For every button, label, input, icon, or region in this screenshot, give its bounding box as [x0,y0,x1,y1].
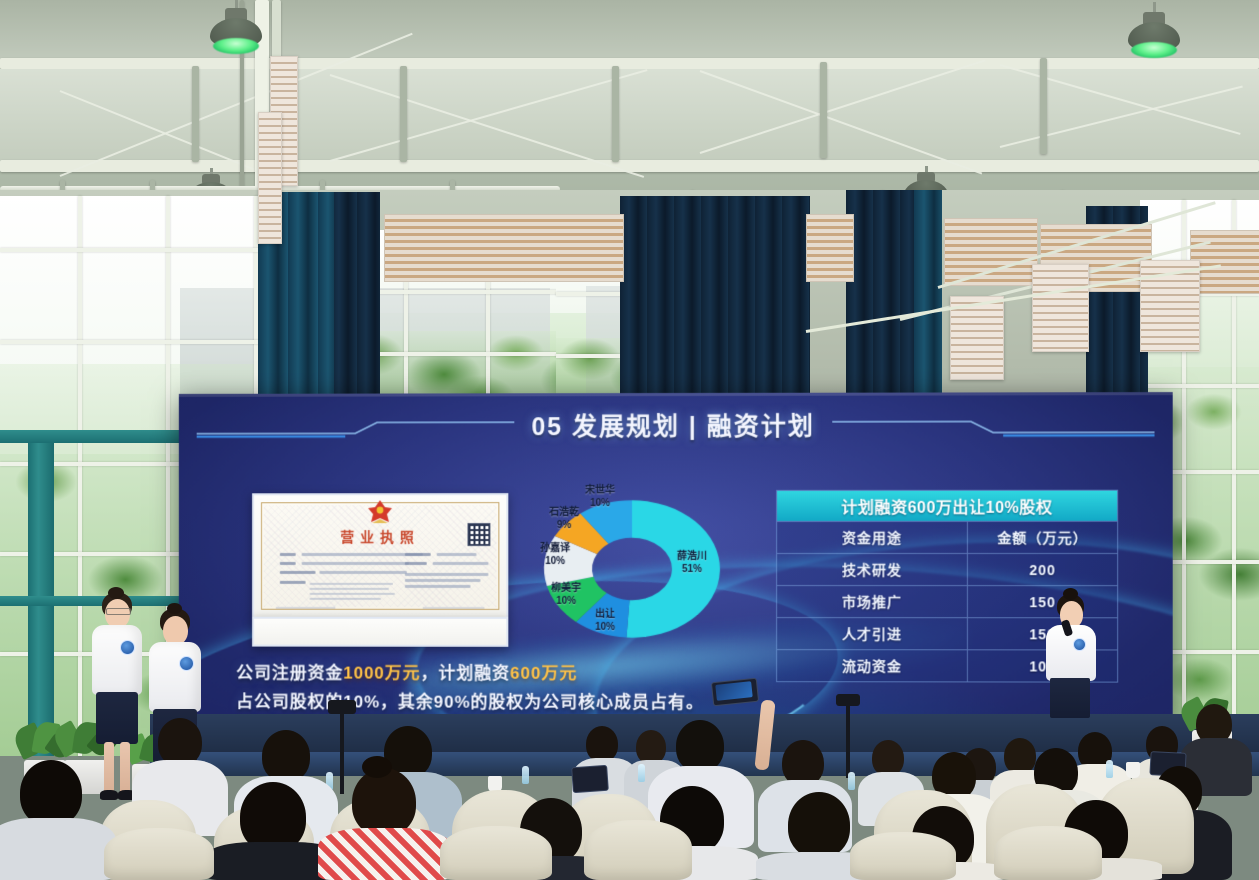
statement-line-1: 公司注册资金1000万元，计划融资600万元 [236,659,874,685]
audience-head [872,740,904,776]
teal-column [28,430,54,756]
ceiling-post [192,66,199,162]
audience-head [158,718,202,766]
cell-use: 技术研发 [777,554,968,585]
camera-head-2 [836,694,860,706]
audience-head-front [352,768,416,836]
ceiling-beam [0,58,1259,69]
stage-curtain-right-a [846,190,916,415]
louver-panel-upper [258,112,282,244]
audience-body-front [318,828,452,880]
tripod-pole-2 [846,700,850,778]
audience-head-front [788,792,850,858]
presenter-with-microphone [1040,594,1100,716]
audience-head-front [20,760,82,826]
audience-chair-front [850,832,956,880]
qr-code-icon [468,523,491,546]
ceiling-post [820,62,827,158]
pendant-lamp [210,0,262,56]
led-presentation-screen[interactable]: 05 发展规划 | 融资计划 营业执照 [179,392,1173,724]
donut-label-2: 石浩乾9% [535,507,593,532]
water-bottle [522,766,529,784]
stmt1-highlight-1: 1000万元 [343,664,420,683]
donut-label-4: 柳美宇10% [537,583,595,608]
equity-donut-chart: 薛浩川51% 宋世华10% 石浩乾9% 孙嘉译10% 柳美宇10% 出让10% [521,485,743,653]
tripod-pole [340,706,344,794]
donut-label-5: 出让10% [579,609,631,634]
tablet-device[interactable] [571,765,609,793]
window-blind [1190,230,1259,294]
water-bottle [1106,760,1113,778]
stage-curtain-center [620,196,810,410]
audience-chair-front [104,828,214,880]
water-bottle [848,772,855,790]
hair-bun [362,756,392,778]
funding-table-column-row: 资金用途 金额（万元） [777,521,1117,553]
curtain-post [914,190,942,416]
title-deco-right [832,418,1154,433]
col-header-use: 资金用途 [777,522,968,553]
audience-chair-front [584,820,692,880]
louver-panel [1032,264,1089,352]
col-header-amount: 金额（万元） [968,522,1117,553]
funding-table-header: 计划融资600万出让10%股权 [777,491,1117,521]
audience-body-front [0,818,116,880]
presentation-photo: 05 发展规划 | 融资计划 营业执照 [0,0,1259,880]
audience-head [262,730,310,782]
cell-use: 市场推广 [777,586,968,617]
ceiling-post [1040,58,1047,154]
cell-amount: 200 [968,554,1117,585]
national-emblem-icon [365,499,395,525]
audience-head [636,730,666,764]
camera-head [328,700,356,714]
window-blind [944,218,1038,286]
window-mullion [78,196,82,756]
ceiling-post [612,66,619,162]
donut-label-0: 薛浩川51% [657,551,727,576]
window-blind [806,214,854,282]
pendant-lamp [1128,2,1180,58]
stmt1-b: ，计划融资 [421,664,511,683]
title-deco-left [197,419,515,433]
window-rail [1140,384,1259,388]
audience-head [586,726,618,762]
glasses-icon [106,608,131,615]
business-license-image: 营业执照 [252,493,508,619]
stmt1-a: 公司注册资金 [236,663,343,682]
audience-head [676,720,724,772]
water-bottle [638,764,645,782]
stmt1-highlight-2: 600万元 [510,664,577,683]
audience-chair-front [994,826,1102,880]
license-reflection [252,617,508,647]
stage-curtain-left [330,192,380,412]
window-blind [384,214,624,282]
paper-cup [1126,762,1140,778]
audience-head [1004,738,1036,774]
audience-chair-front [440,826,552,880]
table-row: 技术研发 200 [777,553,1117,585]
ceiling-slab [0,0,1259,58]
ceiling-post [400,66,407,162]
donut-label-3: 孙嘉译10% [525,543,585,568]
cell-use: 人才引进 [777,618,968,649]
